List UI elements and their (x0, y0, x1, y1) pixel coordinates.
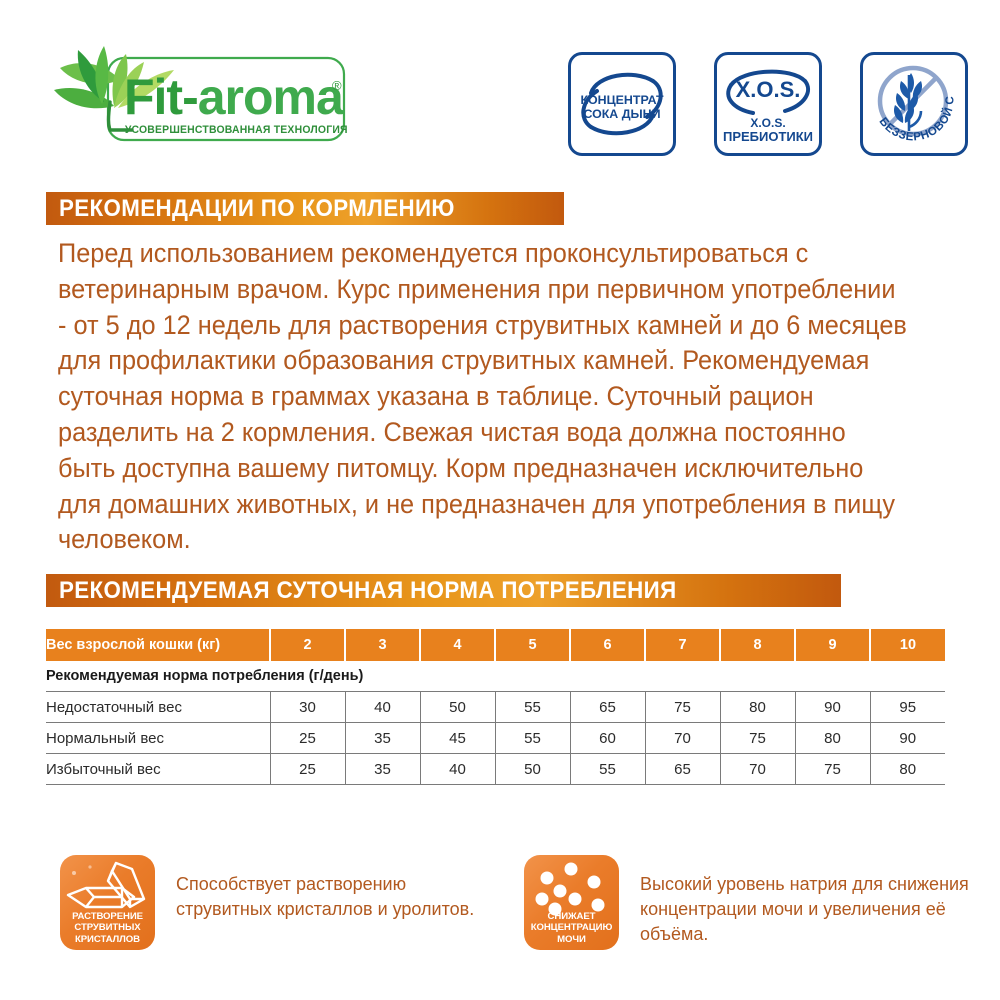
benefit-1-caption-line3: КРИСТАЛЛОВ (60, 934, 155, 945)
xos-prebiotics-icon: X.O.S. X.O.S. ПРЕБИОТИКИ (717, 55, 819, 153)
table-header-weight-5: 5 (495, 629, 570, 661)
cell-overweight-4: 40 (420, 754, 495, 785)
feeding-heading-text: РЕКОМЕНДАЦИИ ПО КОРМЛЕНИЮ (59, 195, 455, 223)
benefit-struvite-dissolution: РАСТВОРЕНИЕ СТРУВИТНЫХ КРИСТАЛЛОВ Способ… (60, 855, 500, 951)
svg-text:КОНЦЕНТРАТ: КОНЦЕНТРАТ (580, 93, 663, 107)
cell-underweight-10: 95 (870, 692, 945, 723)
daily-norm-table: Вес взрослой кошки (кг) 2 3 4 5 6 7 8 9 … (46, 629, 945, 785)
badge-grain-free: БЕЗЗЕРНОВОЙ СОСТАВ (860, 52, 968, 156)
table-header-weight-6: 6 (570, 629, 645, 661)
cell-underweight-6: 65 (570, 692, 645, 723)
row-label-normal: Нормальный вес (46, 723, 270, 754)
table-header-weight-10: 10 (870, 629, 945, 661)
benefit-1-caption-line2: СТРУВИТНЫХ (60, 922, 155, 933)
table-row: Нормальный вес 25 35 45 55 60 70 75 80 9… (46, 723, 945, 754)
benefit-1-caption: РАСТВОРЕНИЕ СТРУВИТНЫХ КРИСТАЛЛОВ (60, 911, 155, 945)
table-header-weight-8: 8 (720, 629, 795, 661)
table-header-weight-9: 9 (795, 629, 870, 661)
row-label-overweight: Избыточный вес (46, 754, 270, 785)
cell-normal-2: 25 (270, 723, 345, 754)
benefit-2-caption-line2: КОНЦЕНТРАЦИЮ (524, 922, 619, 933)
cell-normal-4: 45 (420, 723, 495, 754)
brand-logo: Fit-aroma ® УСОВЕРШЕНСТВОВАННАЯ ТЕХНОЛОГ… (48, 40, 348, 148)
cell-overweight-10: 80 (870, 754, 945, 785)
table-header: Вес взрослой кошки (кг) 2 3 4 5 6 7 8 9 … (46, 629, 945, 661)
table-header-weight-4: 4 (420, 629, 495, 661)
svg-text:СОКА ДЫНИ: СОКА ДЫНИ (583, 107, 660, 121)
cell-normal-7: 70 (645, 723, 720, 754)
cell-overweight-3: 35 (345, 754, 420, 785)
benefit-2-caption-line3: МОЧИ (524, 934, 619, 945)
cell-overweight-7: 65 (645, 754, 720, 785)
cell-overweight-8: 70 (720, 754, 795, 785)
cell-overweight-5: 50 (495, 754, 570, 785)
cell-normal-8: 75 (720, 723, 795, 754)
table-header-weight-2: 2 (270, 629, 345, 661)
benefit-1-text: Способствует растворению струвитных крис… (176, 872, 506, 922)
table-header-row: Вес взрослой кошки (кг) 2 3 4 5 6 7 8 9 … (46, 629, 945, 661)
cell-underweight-8: 80 (720, 692, 795, 723)
svg-text:Fit-aroma: Fit-aroma (124, 69, 345, 125)
cell-overweight-9: 75 (795, 754, 870, 785)
badge-xos-prebiotics: X.O.S. X.O.S. ПРЕБИОТИКИ (714, 52, 822, 156)
table-row: Избыточный вес 25 35 40 50 55 65 70 75 8… (46, 754, 945, 785)
cell-underweight-2: 30 (270, 692, 345, 723)
cell-underweight-4: 50 (420, 692, 495, 723)
cell-overweight-2: 25 (270, 754, 345, 785)
cell-normal-10: 90 (870, 723, 945, 754)
table-subheader-text: Рекомендуемая норма потребления (г/день) (46, 661, 945, 692)
badge-melon-juice-concentrate: КОНЦЕНТРАТ СОКА ДЫНИ (568, 52, 676, 156)
cell-underweight-7: 75 (645, 692, 720, 723)
grain-free-icon: БЕЗЗЕРНОВОЙ СОСТАВ (863, 55, 965, 153)
cell-underweight-5: 55 (495, 692, 570, 723)
benefit-2-caption: СНИЖАЕТ КОНЦЕНТРАЦИЮ МОЧИ (524, 911, 619, 945)
melon-juice-concentrate-icon: КОНЦЕНТРАТ СОКА ДЫНИ (571, 55, 673, 153)
table-header-weight-label: Вес взрослой кошки (кг) (46, 629, 270, 661)
svg-text:X.O.S.: X.O.S. (750, 116, 785, 130)
feature-badges: КОНЦЕНТРАТ СОКА ДЫНИ X.O.S. X.O.S. ПРЕБИ… (568, 52, 968, 160)
urine-concentration-reduction-icon: СНИЖАЕТ КОНЦЕНТРАЦИЮ МОЧИ (524, 855, 619, 950)
svg-text:ПРЕБИОТИКИ: ПРЕБИОТИКИ (723, 129, 813, 144)
cell-normal-6: 60 (570, 723, 645, 754)
row-label-underweight: Недостаточный вес (46, 692, 270, 723)
cell-underweight-3: 40 (345, 692, 420, 723)
table-row: Недостаточный вес 30 40 50 55 65 75 80 9… (46, 692, 945, 723)
page-header: Fit-aroma ® УСОВЕРШЕНСТВОВАННАЯ ТЕХНОЛОГ… (0, 0, 1000, 175)
logo-tagline: УСОВЕРШЕНСТВОВАННАЯ ТЕХНОЛОГИЯ ОБРАБОТКИ (125, 124, 348, 136)
benefit-urine-concentration: СНИЖАЕТ КОНЦЕНТРАЦИЮ МОЧИ Высокий уровен… (524, 855, 974, 951)
registered-mark: ® (332, 78, 342, 93)
feeding-recommendations-heading: РЕКОМЕНДАЦИИ ПО КОРМЛЕНИЮ (46, 192, 564, 225)
daily-norm-heading: РЕКОМЕНДУЕМАЯ СУТОЧНАЯ НОРМА ПОТРЕБЛЕНИЯ (46, 574, 841, 607)
svg-text:X.O.S.: X.O.S. (736, 77, 801, 102)
cell-normal-5: 55 (495, 723, 570, 754)
cell-normal-3: 35 (345, 723, 420, 754)
table-header-weight-7: 7 (645, 629, 720, 661)
table-subheader-row: Рекомендуемая норма потребления (г/день) (46, 661, 945, 692)
table-body: Рекомендуемая норма потребления (г/день)… (46, 661, 945, 785)
cell-underweight-9: 90 (795, 692, 870, 723)
norm-heading-text: РЕКОМЕНДУЕМАЯ СУТОЧНАЯ НОРМА ПОТРЕБЛЕНИЯ (59, 577, 676, 605)
feeding-recommendations-body: Перед использованием рекомендуется проко… (58, 236, 908, 558)
benefit-2-caption-line1: СНИЖАЕТ (524, 911, 619, 922)
benefit-1-caption-line1: РАСТВОРЕНИЕ (60, 911, 155, 922)
benefit-2-text: Высокий уровень натрия для снижения конц… (640, 872, 970, 947)
fit-aroma-logo-icon: Fit-aroma ® УСОВЕРШЕНСТВОВАННАЯ ТЕХНОЛОГ… (48, 40, 348, 148)
cell-normal-9: 80 (795, 723, 870, 754)
table-header-weight-3: 3 (345, 629, 420, 661)
cell-overweight-6: 55 (570, 754, 645, 785)
struvite-crystal-dissolution-icon: РАСТВОРЕНИЕ СТРУВИТНЫХ КРИСТАЛЛОВ (60, 855, 155, 950)
